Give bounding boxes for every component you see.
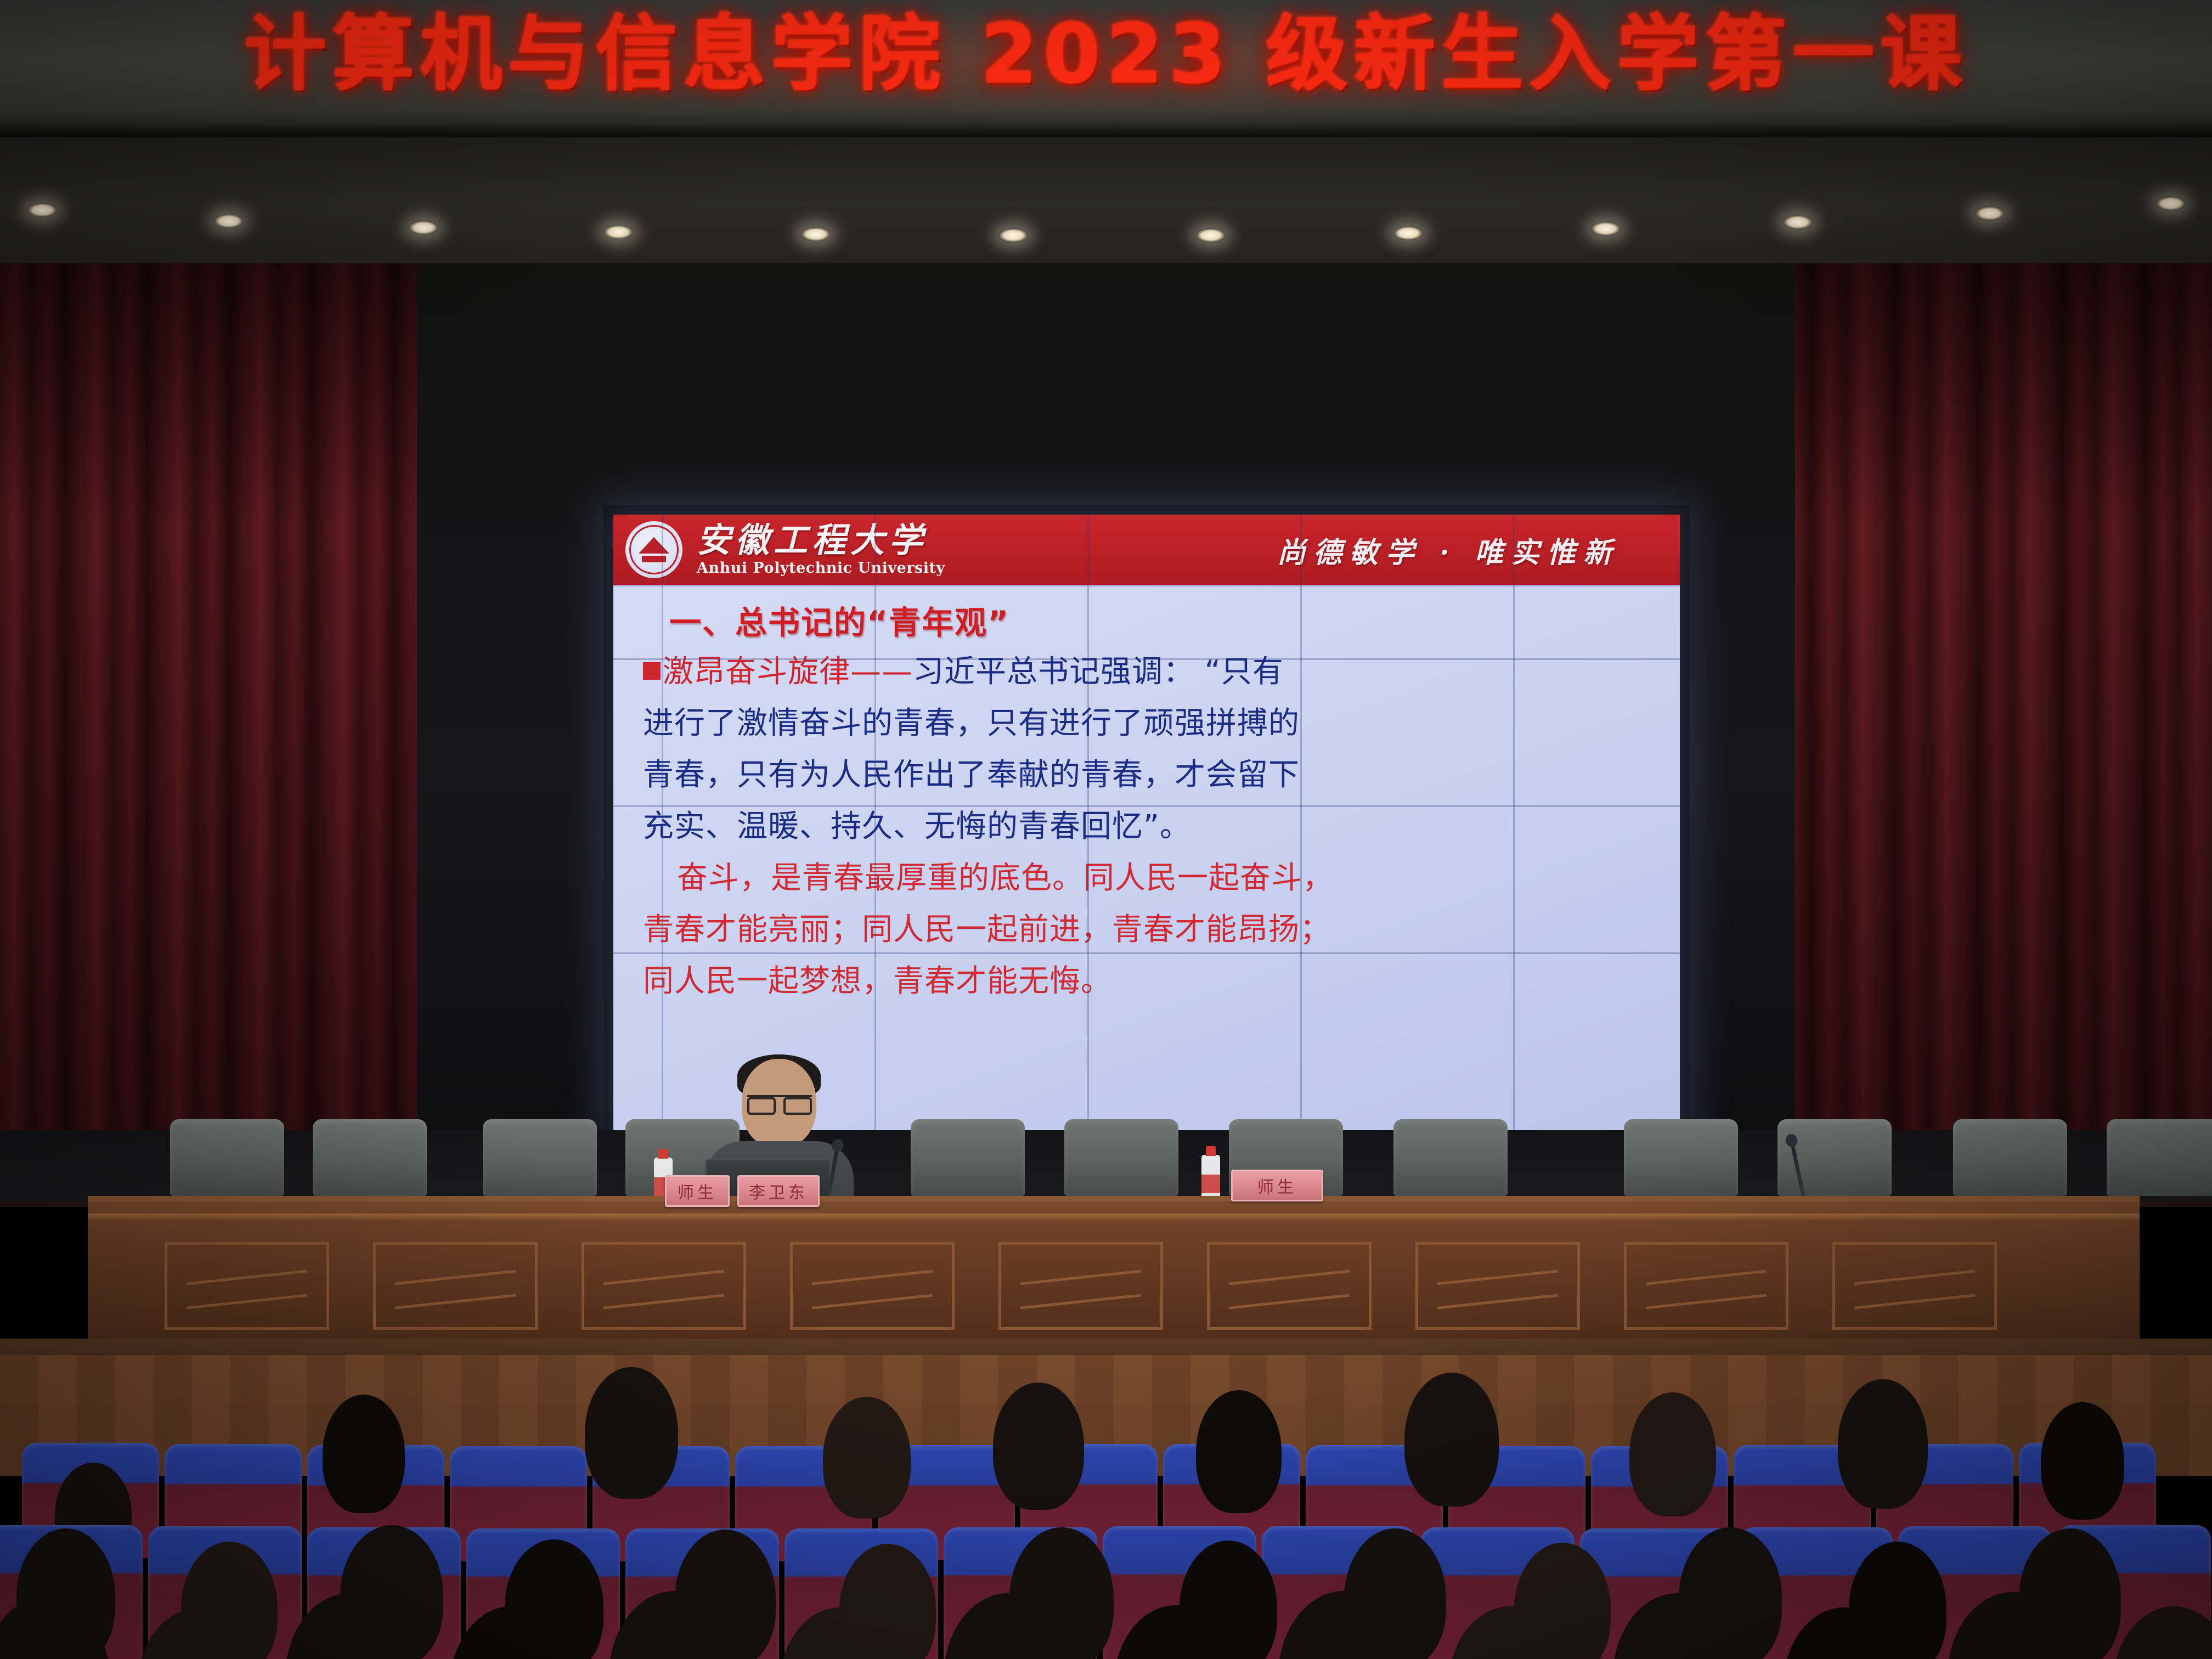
name-placard-speaker: 李卫东 [737,1175,820,1207]
audience-head [1629,1392,1716,1516]
audience-head [1838,1379,1928,1509]
ceiling-downlight [998,228,1028,242]
led-panel-seam [613,952,1680,954]
led-panel-seam [613,658,1680,660]
presentation-slide: 安徽工程大学 Anhui Polytechnic University 尚德敏学… [613,515,1680,1130]
stage-chair [1624,1119,1738,1196]
ceiling-downlight [27,203,57,217]
led-panel-seam [1087,515,1089,1130]
ceiling-downlight [2156,196,2186,211]
university-emblem-icon [625,521,682,578]
stage-chair [313,1119,427,1196]
stage-chair [911,1119,1025,1196]
audience-head [2041,1402,2124,1520]
audience-head [993,1383,1084,1510]
stage-curtain-left [0,263,417,1196]
led-banner-text: 计算机与信息学院 2023 级新生入学第一课 [0,8,2212,101]
ceiling-downlight [1975,206,2005,221]
university-motto: 尚德敏学 · 唯实惟新 [1277,529,1620,571]
audience-head [323,1395,405,1513]
auditorium-photo: 计算机与信息学院 2023 级新生入学第一课 安徽工程大学 Anhui Poly… [0,0,2212,1659]
square-bullet-icon [643,662,661,680]
head-table [88,1196,2140,1361]
ceiling-downlight [1393,226,1423,240]
stage-curtain-right [1795,263,2212,1196]
led-panel-seam [613,585,1680,586]
audience-seating [0,1361,2212,1659]
slide-paragraph-line: 激昂奋斗旋律——习近平总书记强调： “只有 [643,646,1650,698]
led-panel-seam [613,805,1680,807]
led-panel-seam [1300,515,1302,1130]
ceiling-downlight [1196,228,1226,242]
ceiling-downlight [603,225,633,239]
slide-body: 一、总书记的“青年观” 激昂奋斗旋律——习近平总书记强调： “只有 进行了激情奋… [613,585,1680,1130]
table-front-panel [582,1242,746,1330]
slide-header-bar: 安徽工程大学 Anhui Polytechnic University 尚德敏学… [613,515,1680,585]
slide-paragraph-line: 青春，只有为人民作出了奉献的青春，才会留下 [643,749,1650,801]
slide-highlight-line: 奋斗，是青春最厚重的底色。同人民一起奋斗， [643,853,1650,904]
audience-head [1404,1373,1499,1506]
led-panel-seam [1513,515,1515,1130]
university-name-en: Anhui Polytechnic University [697,560,945,577]
ceiling-downlight [801,227,831,241]
ceiling-downlight [214,214,244,228]
table-front-panel [1832,1242,1997,1330]
university-name-cn: 安徽工程大学 [697,523,945,558]
stage-chair [2107,1119,2212,1196]
slide-highlight-line: 同人民一起梦想，青春才能无悔。 [643,956,1650,1007]
ceiling-downlight [409,221,438,235]
name-placard-right: 师生 [1231,1170,1323,1201]
slide-section-title: 一、总书记的“青年观” [669,599,1650,646]
audience-head [585,1367,678,1499]
table-front-panel [1624,1242,1788,1330]
led-banner-bar: 计算机与信息学院 2023 级新生入学第一课 [0,0,2212,137]
audience-head [1196,1390,1282,1513]
stage-chair [1393,1119,1508,1196]
table-front-panel [373,1242,538,1330]
stage-chair [483,1119,597,1196]
university-name-block: 安徽工程大学 Anhui Polytechnic University [697,523,945,577]
glasses-icon [747,1095,812,1109]
ceiling-downlight [1591,222,1621,236]
audience-head [823,1397,911,1519]
table-front-panel [790,1242,955,1330]
stage-chair [170,1119,284,1196]
stage-chair [1953,1119,2067,1196]
slide-paragraph-line: 充实、温暖、持久、无悔的青春回忆”。 [643,801,1650,853]
table-front-panel [165,1242,329,1330]
table-front-panel [998,1242,1163,1330]
name-placard-secondary: 师生 [665,1175,730,1207]
ceiling-downlight [1783,215,1813,229]
slide-highlight-line: 青春才能亮丽；同人民一起前进，青春才能昂扬； [643,904,1650,956]
slide-paragraph-line: 进行了激情奋斗的青春，只有进行了顽强拼搏的 [643,698,1650,749]
stage-chair [1064,1119,1178,1196]
table-front-panel [1415,1242,1580,1330]
led-panel-seam [662,515,663,1130]
led-panel-seam [874,515,876,1130]
table-front-panel [1207,1242,1372,1330]
